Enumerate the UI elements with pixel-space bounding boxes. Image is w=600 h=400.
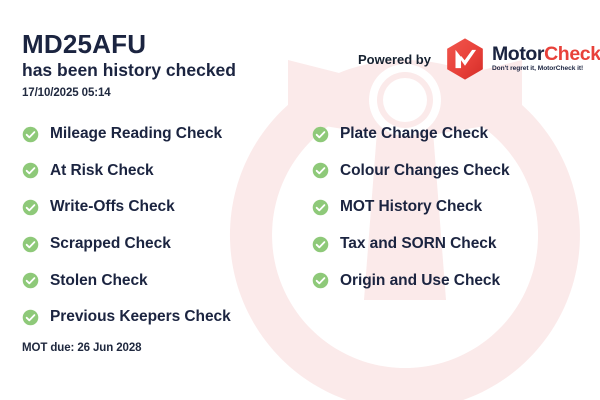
- mot-due-note: MOT due: 26 Jun 2028: [22, 342, 141, 354]
- check-item-label: Write-Offs Check: [50, 198, 175, 216]
- check-circle-icon: [22, 236, 39, 253]
- check-item-label: Plate Change Check: [340, 125, 488, 143]
- check-item-label: Colour Changes Check: [340, 162, 510, 180]
- vehicle-history-check-card: MD25AFU has been history checked 17/10/2…: [0, 0, 600, 400]
- checks-right-column: Plate Change Check Colour Changes Check …: [312, 116, 600, 299]
- motorcheck-hexagon-logo-icon: [445, 38, 485, 80]
- check-item: Stolen Check: [22, 262, 312, 299]
- check-item-label: Stolen Check: [50, 272, 148, 290]
- check-item-label: Scrapped Check: [50, 235, 171, 253]
- check-item-label: Origin and Use Check: [340, 272, 500, 290]
- check-item: Colour Changes Check: [312, 153, 600, 190]
- logo-word-motor: Motor: [492, 43, 544, 65]
- headline-text: has been history checked: [22, 60, 352, 82]
- check-circle-icon: [312, 162, 329, 179]
- check-circle-icon: [22, 126, 39, 143]
- check-circle-icon: [312, 199, 329, 216]
- registration-plate: MD25AFU: [22, 30, 352, 59]
- check-circle-icon: [312, 272, 329, 289]
- check-item-label: Previous Keepers Check: [50, 308, 231, 326]
- check-item: Write-Offs Check: [22, 189, 312, 226]
- check-item-label: Tax and SORN Check: [340, 235, 496, 253]
- header-block: MD25AFU has been history checked 17/10/2…: [22, 30, 352, 99]
- check-item: MOT History Check: [312, 189, 600, 226]
- check-circle-icon: [22, 162, 39, 179]
- check-circle-icon: [312, 236, 329, 253]
- check-item: Previous Keepers Check: [22, 299, 312, 336]
- check-timestamp: 17/10/2025 05:14: [22, 87, 352, 99]
- check-item: Origin and Use Check: [312, 262, 600, 299]
- check-item-label: At Risk Check: [50, 162, 154, 180]
- check-item: Scrapped Check: [22, 226, 312, 263]
- check-item-label: MOT History Check: [340, 198, 482, 216]
- powered-by-label: Powered by: [358, 52, 431, 67]
- powered-by-lockup: Powered by MotorCheck Don': [358, 38, 600, 80]
- check-circle-icon: [312, 126, 329, 143]
- check-circle-icon: [22, 272, 39, 289]
- logo-word-check: Check: [544, 43, 600, 65]
- check-item: Plate Change Check: [312, 116, 600, 153]
- card-content: MD25AFU has been history checked 17/10/2…: [0, 0, 600, 400]
- check-item: Mileage Reading Check: [22, 116, 312, 153]
- check-item: At Risk Check: [22, 153, 312, 190]
- check-item-label: Mileage Reading Check: [50, 125, 222, 143]
- check-circle-icon: [22, 309, 39, 326]
- check-item: Tax and SORN Check: [312, 226, 600, 263]
- checks-left-column: Mileage Reading Check At Risk Check Writ…: [22, 116, 312, 336]
- motorcheck-wordmark: MotorCheck Don't regret it, MotorCheck i…: [492, 45, 600, 73]
- logo-tagline: Don't regret it, MotorCheck it!: [492, 66, 600, 73]
- check-circle-icon: [22, 199, 39, 216]
- logo-word-row: MotorCheck: [492, 45, 600, 65]
